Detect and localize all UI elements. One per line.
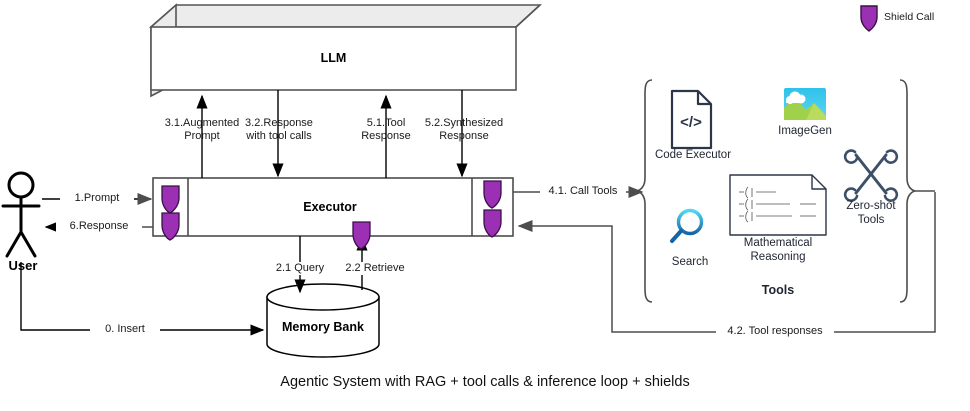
user-stick-figure — [3, 173, 39, 256]
user-label: User — [0, 258, 46, 273]
edge-label-synthesized-response-line1: 5.2.Synthesized — [425, 117, 503, 129]
tools-brace-right — [900, 80, 935, 302]
legend-shield-label: Shield Call — [884, 11, 934, 23]
svg-text:</>: </> — [680, 114, 702, 131]
legend-shield-icon — [861, 6, 877, 31]
edge-label-response-tool-calls-line1: 3.2.Response — [245, 117, 313, 129]
magnifier-icon — [672, 211, 702, 242]
edge-label-tool-response-line1: 5.1.Tool — [367, 117, 406, 129]
tools-group-label: Tools — [735, 283, 821, 297]
crossed-wrenches-icon — [845, 151, 897, 201]
executor-label: Executor — [188, 200, 472, 214]
memory-bank-label: Memory Bank — [267, 320, 379, 334]
llm-label: LLM — [151, 51, 516, 65]
insert-edge — [21, 262, 263, 330]
tool-label-code-executor: Code Executor — [641, 148, 745, 162]
edge-label-tool-responses: 4.2. Tool responses — [716, 325, 834, 338]
tool-label-mathematical-reasoning: Mathematical Reasoning — [733, 236, 823, 264]
edge-label-query: 2.1 Query — [264, 262, 336, 275]
edge-label-prompt: 1.Prompt — [60, 192, 134, 205]
diagram-canvas: </> — [0, 0, 970, 411]
edge-label-augmented-prompt-line2: Prompt — [184, 130, 219, 142]
edge-label-synthesized-response: 5.2.Synthesized Response — [408, 117, 520, 143]
tool-label-search: Search — [660, 255, 720, 269]
edge-label-response: 6.Response — [56, 220, 142, 233]
tool-label-imagegen: ImageGen — [761, 124, 849, 138]
edge-label-tool-response-line2: Response — [361, 130, 411, 142]
edge-label-call-tools: 4.1. Call Tools — [540, 185, 626, 198]
image-icon — [784, 88, 826, 120]
edge-label-insert: 0. Insert — [90, 323, 160, 336]
tool-label-zero-shot-tools: Zero-shot Tools — [841, 199, 901, 227]
math-document-icon — [730, 175, 826, 235]
diagram-caption: Agentic System with RAG + tool calls & i… — [0, 374, 970, 390]
code-document-icon: </> — [672, 91, 711, 148]
edge-label-synthesized-response-line2: Response — [439, 130, 489, 142]
tools-brace-left — [637, 80, 652, 302]
edge-label-response-tool-calls-line2: with tool calls — [246, 130, 311, 142]
shield-icon-memory — [353, 222, 370, 249]
edge-label-retrieve: 2.2 Retrieve — [334, 262, 416, 275]
edge-label-response-tool-calls: 3.2.Response with tool calls — [222, 117, 336, 143]
